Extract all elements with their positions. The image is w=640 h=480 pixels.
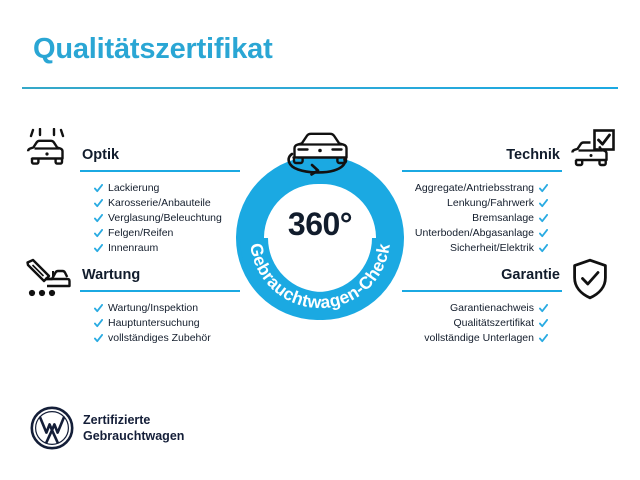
check-icon bbox=[539, 244, 548, 253]
list-item: Wartung/Inspektion bbox=[80, 301, 240, 316]
list-item-label: Lenkung/Fahrwerk bbox=[447, 196, 534, 211]
check-icon bbox=[539, 184, 548, 193]
list-item-label: Unterboden/Abgasanlage bbox=[415, 226, 534, 241]
checklist-wartung: Wartung/Inspektion Hauptuntersuchung vol… bbox=[80, 301, 240, 347]
section-wartung: Wartung Wartung/Inspektion Hauptuntersuc… bbox=[80, 268, 240, 346]
car-wash-icon bbox=[25, 128, 69, 173]
section-heading-garantie: Garantie bbox=[402, 268, 562, 283]
section-heading-technik: Technik bbox=[402, 148, 562, 163]
list-item-label: Sicherheit/Elektrik bbox=[450, 241, 534, 256]
list-item-label: vollständige Unterlagen bbox=[424, 331, 534, 346]
list-item: Bremsanlage bbox=[402, 211, 562, 226]
badge-center-label: 360° bbox=[232, 206, 408, 243]
list-item-label: Hauptuntersuchung bbox=[108, 316, 200, 331]
check-icon bbox=[539, 199, 548, 208]
section-divider-garantie bbox=[402, 290, 562, 292]
list-item: Lenkung/Fahrwerk bbox=[402, 196, 562, 211]
list-item: Hauptuntersuchung bbox=[80, 316, 240, 331]
list-item-label: Wartung/Inspektion bbox=[108, 301, 198, 316]
volkswagen-logo-icon bbox=[30, 406, 74, 450]
list-item: Innenraum bbox=[80, 241, 240, 256]
footer-logo-text: Zertifizierte Gebrauchtwagen bbox=[83, 412, 184, 444]
check-icon bbox=[94, 304, 103, 313]
list-item: vollständige Unterlagen bbox=[402, 331, 562, 346]
list-item: Felgen/Reifen bbox=[80, 226, 240, 241]
list-item-label: Lackierung bbox=[108, 181, 159, 196]
list-item-label: Karosserie/Anbauteile bbox=[108, 196, 211, 211]
list-item-label: Verglasung/Beleuchtung bbox=[108, 211, 222, 226]
list-item: Garantienachweis bbox=[402, 301, 562, 316]
check-icon bbox=[539, 229, 548, 238]
section-divider-wartung bbox=[80, 290, 240, 292]
check-icon bbox=[539, 304, 548, 313]
list-item: Unterboden/Abgasanlage bbox=[402, 226, 562, 241]
title-divider bbox=[22, 87, 618, 89]
list-item: vollständiges Zubehör bbox=[80, 331, 240, 346]
page-title: Qualitätszertifikat bbox=[33, 33, 273, 66]
check-icon bbox=[539, 319, 548, 328]
checklist-garantie: Garantienachweis Qualitätszertifikat vol… bbox=[402, 301, 562, 347]
section-technik: Technik Aggregate/Antriebsstrang Lenkung… bbox=[402, 148, 562, 257]
check-icon bbox=[539, 214, 548, 223]
list-item: Verglasung/Beleuchtung bbox=[80, 211, 240, 226]
check-icon bbox=[539, 334, 548, 343]
checklist-technik: Aggregate/Antriebsstrang Lenkung/Fahrwer… bbox=[402, 181, 562, 257]
list-item: Sicherheit/Elektrik bbox=[402, 241, 562, 256]
section-divider-technik bbox=[402, 170, 562, 172]
car-service-tools-icon bbox=[23, 258, 71, 305]
list-item-label: Felgen/Reifen bbox=[108, 226, 173, 241]
list-item-label: Aggregate/Antriebsstrang bbox=[415, 181, 534, 196]
section-heading-wartung: Wartung bbox=[80, 268, 240, 283]
shield-check-icon bbox=[572, 258, 608, 305]
list-item-label: Bremsanlage bbox=[472, 211, 534, 226]
footer-logo-line1: Zertifizierte bbox=[83, 412, 184, 428]
list-item: Lackierung bbox=[80, 181, 240, 196]
check-icon bbox=[94, 244, 103, 253]
list-item: Qualitätszertifikat bbox=[402, 316, 562, 331]
list-item-label: Innenraum bbox=[108, 241, 158, 256]
check-icon bbox=[94, 229, 103, 238]
section-heading-optik: Optik bbox=[80, 148, 240, 163]
checklist-optik: Lackierung Karosserie/Anbauteile Verglas… bbox=[80, 181, 240, 257]
section-optik: Optik Lackierung Karosserie/Anbauteile V… bbox=[80, 148, 240, 257]
car-front-rotation-icon bbox=[282, 118, 358, 180]
check-icon bbox=[94, 184, 103, 193]
list-item: Karosserie/Anbauteile bbox=[80, 196, 240, 211]
check-icon bbox=[94, 214, 103, 223]
list-item-label: vollständiges Zubehör bbox=[108, 331, 211, 346]
check-icon bbox=[94, 199, 103, 208]
list-item-label: Garantienachweis bbox=[450, 301, 534, 316]
list-item: Aggregate/Antriebsstrang bbox=[402, 181, 562, 196]
certificate-page: Qualitätszertifikat bbox=[0, 0, 640, 480]
section-garantie: Garantie Garantienachweis Qualitätszerti… bbox=[402, 268, 562, 346]
check-icon bbox=[94, 319, 103, 328]
car-checkbox-icon bbox=[568, 128, 616, 175]
section-divider-optik bbox=[80, 170, 240, 172]
list-item-label: Qualitätszertifikat bbox=[453, 316, 534, 331]
footer-logo-line2: Gebrauchtwagen bbox=[83, 428, 184, 444]
check-icon bbox=[94, 334, 103, 343]
